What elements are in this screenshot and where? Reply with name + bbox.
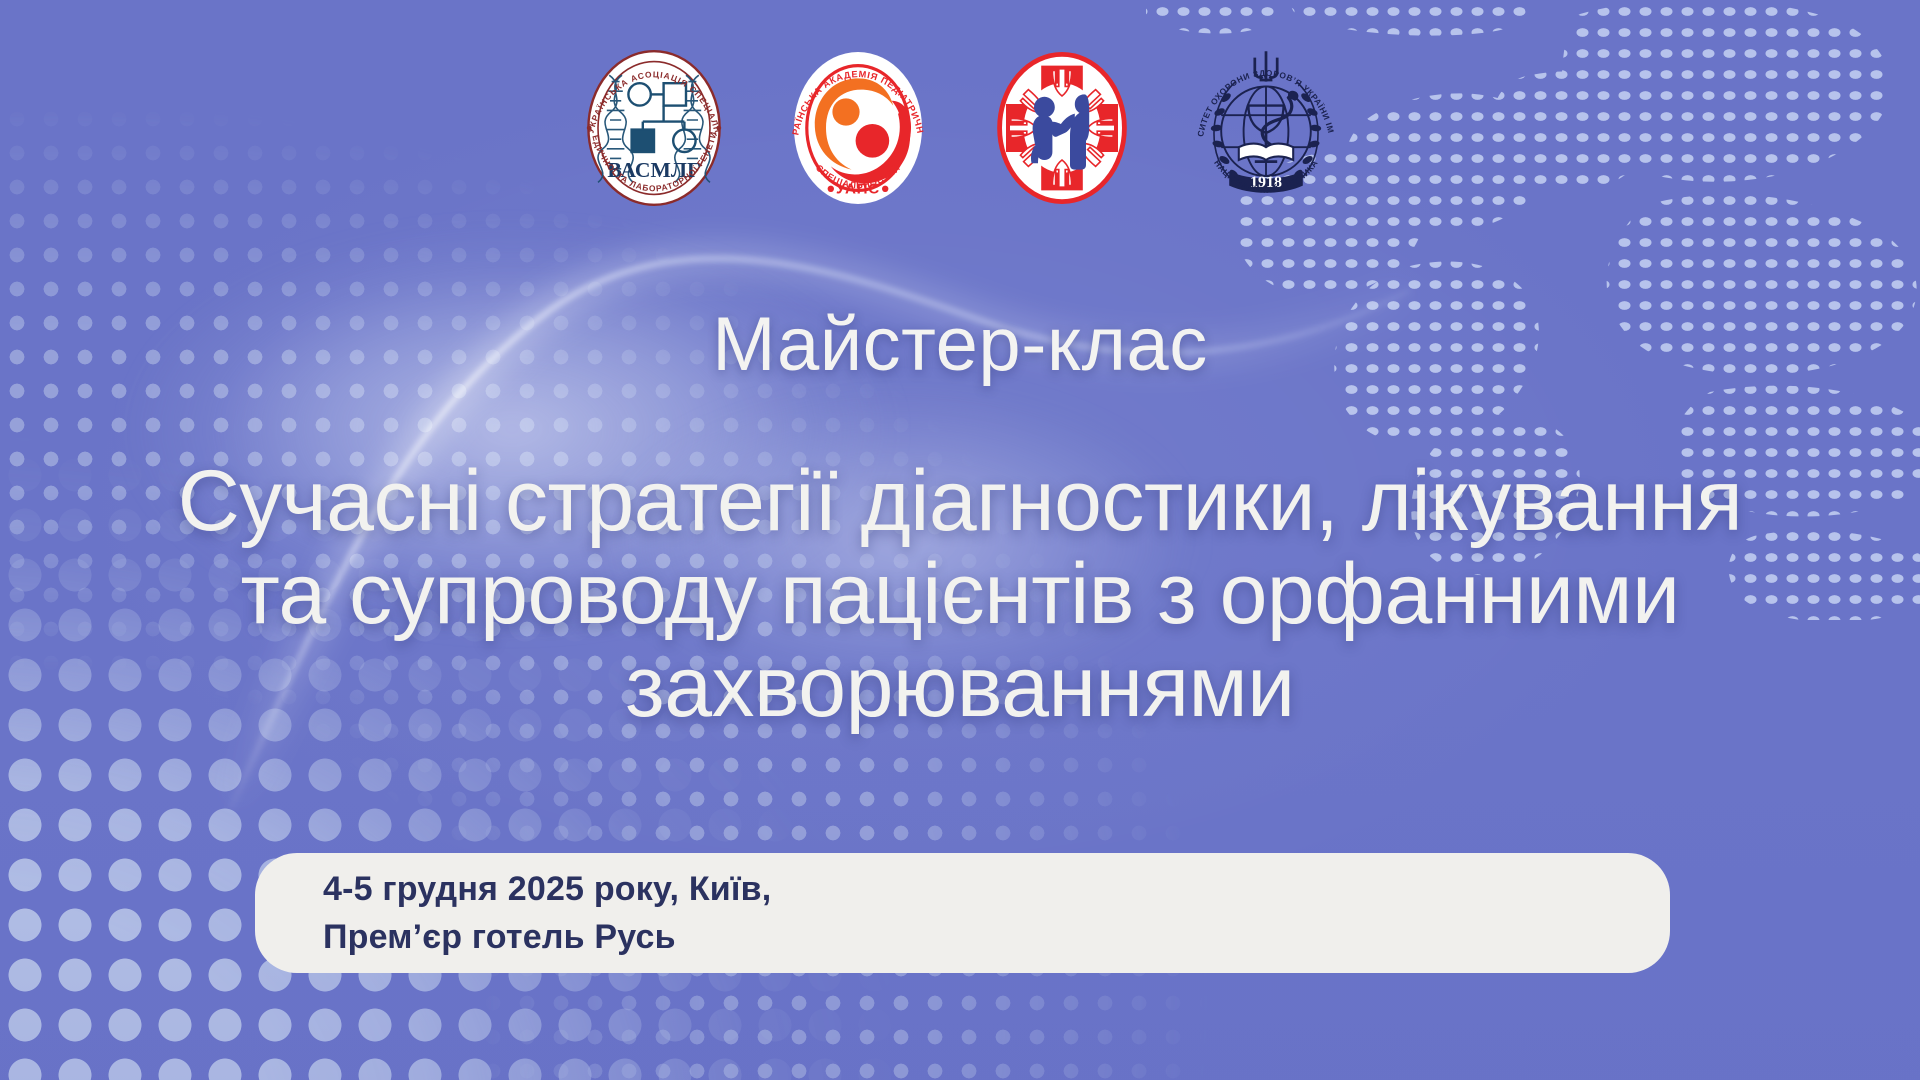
page-title-line-1: Сучасні стратегії діагностики, лікування — [60, 455, 1860, 548]
poster-content: ВАСМЛГ ВСЕУКРАЇНСЬКА АСОЦІАЦІЯ СПЕЦІАЛІС… — [0, 0, 1920, 1080]
mother-and-child-cross-logo — [982, 44, 1142, 212]
event-details-box: 4-5 грудня 2025 року, Київ, Прем’єр готе… — [255, 853, 1670, 973]
page-title: Сучасні стратегії діагностики, лікування… — [60, 455, 1860, 734]
uaps-logo: УАПС УКРАЇНСЬКА АКАДЕМІЯ ПЕДІАТРИЧНИХ СП… — [778, 44, 938, 212]
event-venue: Прем’єр готель Русь — [323, 913, 1670, 961]
event-kicker: Майстер-клас — [0, 305, 1920, 385]
page-title-line-3: захворюваннями — [60, 641, 1860, 734]
logo-row: ВАСМЛГ ВСЕУКРАЇНСЬКА АСОЦІАЦІЯ СПЕЦІАЛІС… — [0, 44, 1920, 212]
vasmlg-logo: ВАСМЛГ ВСЕУКРАЇНСЬКА АСОЦІАЦІЯ СПЕЦІАЛІС… — [574, 44, 734, 212]
page-title-line-2: та супроводу пацієнтів з орфанними — [60, 548, 1860, 641]
shupyk-university-logo: 1918 УНІВЕРСИТЕТ ОХОРОНИ ЗДОРОВ’Я УКРАЇН… — [1186, 44, 1346, 212]
event-date-location: 4-5 грудня 2025 року, Київ, — [323, 865, 1670, 913]
svg-text:УНІВЕРСИТЕТ ОХОРОНИ ЗДОРОВ’Я У: УНІВЕРСИТЕТ ОХОРОНИ ЗДОРОВ’Я УКРАЇНИ ІМЕ… — [1186, 44, 1336, 138]
